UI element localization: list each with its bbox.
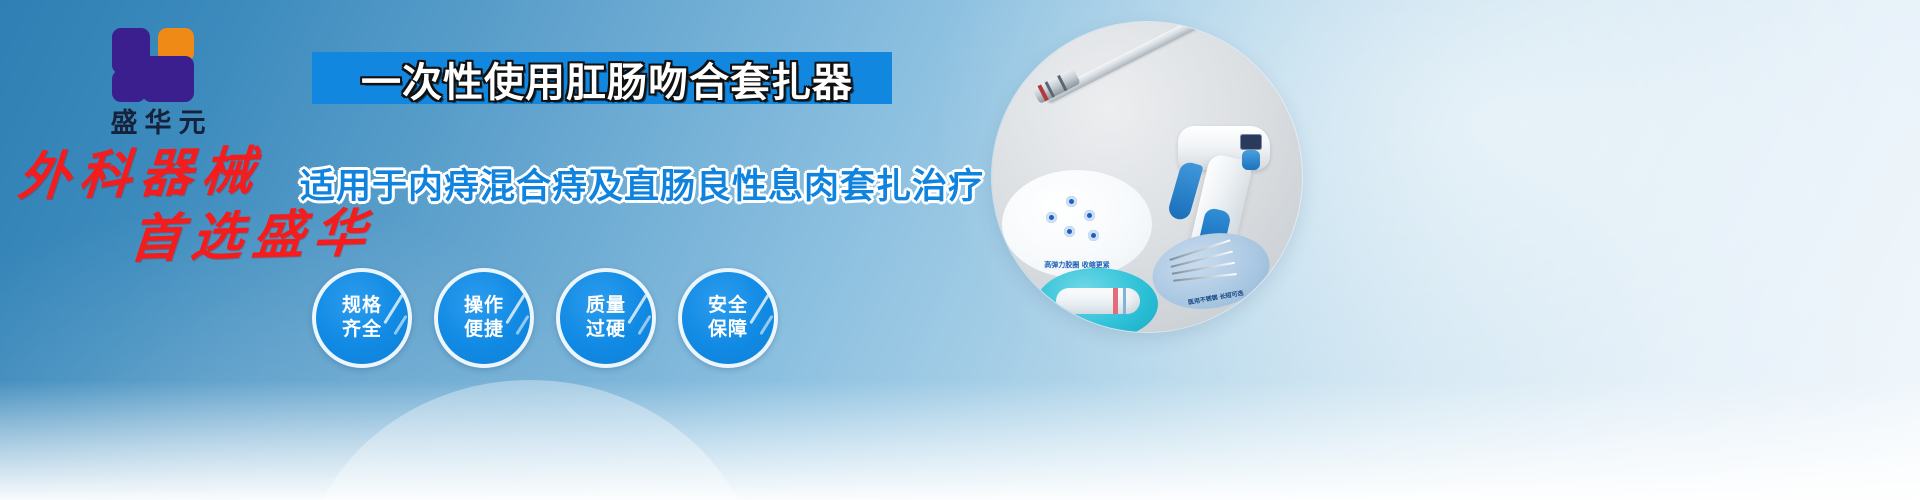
page-title: 一次性使用肛肠吻合套扎器 (322, 53, 892, 105)
feature-badge-safety[interactable]: 安全 保障 (678, 268, 778, 368)
product-photo: 高弹力胶圈 收缩更紧 医用不锈钢 长短可选 (992, 22, 1302, 332)
feature-badge-operation[interactable]: 操作 便捷 (434, 268, 534, 368)
needle (1173, 273, 1237, 282)
rubber-band-dot (1084, 210, 1095, 221)
inset-rubber-bands: 高弹力胶圈 收缩更紧 (1002, 170, 1152, 278)
slash-decoration-icon (393, 315, 407, 335)
brand-name: 盛华元 (68, 108, 248, 139)
feature-badge-line-1: 操作 (464, 294, 504, 318)
rubber-band-dot (1064, 226, 1075, 237)
feature-badge-line-2: 保障 (708, 318, 748, 342)
inset-caption-rubber-bands: 高弹力胶圈 收缩更紧 (1002, 260, 1152, 270)
logo-block-bottom (112, 70, 146, 102)
feature-badge-specifications[interactable]: 规格 齐全 (312, 268, 412, 368)
needle-group (1167, 243, 1257, 287)
feature-badge-line-2: 过硬 (586, 318, 626, 342)
device-shaft (1044, 22, 1209, 104)
rubber-band-dot (1066, 196, 1077, 207)
shenghuayuan-blocks-logo-icon (112, 26, 204, 104)
feature-badge-quality[interactable]: 质量 过硬 (556, 268, 656, 368)
anoscope-band-red (1113, 288, 1118, 314)
inset-anoscope (1036, 268, 1158, 332)
rubber-band-dots (1038, 196, 1118, 250)
feature-badge-line-2: 齐全 (342, 318, 382, 342)
device-control-panel (1240, 134, 1262, 150)
brand-logo[interactable]: 盛华元 (68, 26, 248, 139)
bottom-arc-decoration (300, 380, 760, 500)
feature-badge-list: 规格 齐全 操作 便捷 质量 过硬 安全 保障 (312, 268, 882, 368)
slash-decoration-icon (515, 315, 529, 335)
anoscope-band-blue (1123, 288, 1126, 314)
page-subtitle: 适用于内痔混合痔及直肠良性息肉套扎治疗 (300, 158, 910, 209)
feature-badge-line-1: 质量 (586, 294, 626, 318)
calligraphy-line-2: 首选盛华 (128, 206, 441, 266)
anoscope-tube (1056, 288, 1140, 314)
feature-badge-line-2: 便捷 (464, 318, 504, 342)
slash-decoration-icon (637, 315, 651, 335)
promo-banner: 盛华元 外科器械 首选盛华 一次性使用肛肠吻合套扎器 适用于内痔混合痔及直肠良性… (0, 0, 1920, 500)
feature-badge-line-1: 规格 (342, 294, 382, 318)
bottom-fade-overlay (0, 380, 1920, 500)
device-tip-ring-grey (1057, 75, 1067, 92)
logo-block-right (142, 56, 194, 102)
device-button (1242, 150, 1260, 170)
feature-badge-line-1: 安全 (708, 294, 748, 318)
rubber-band-dot (1046, 212, 1057, 223)
rubber-band-dot (1088, 230, 1099, 241)
slash-decoration-icon (759, 315, 773, 335)
